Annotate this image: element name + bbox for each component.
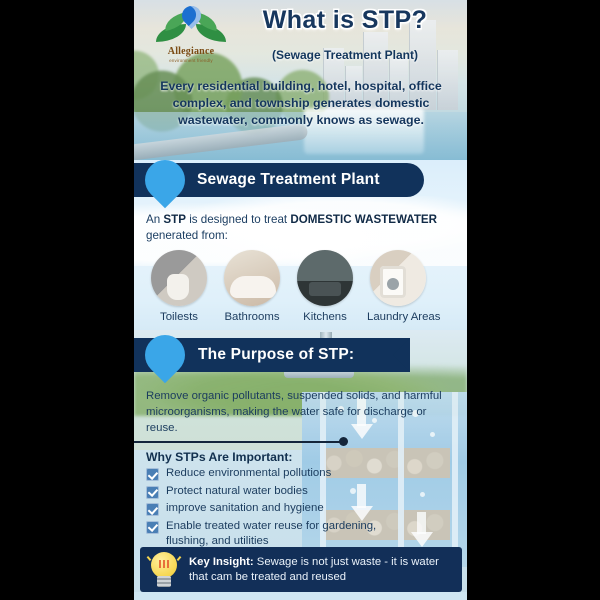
infographic-poster: Allegiance environment friendly What is …: [134, 0, 467, 600]
purpose-description: Remove organic pollutants, suspended sol…: [146, 388, 446, 436]
page-subtitle: (Sewage Treatment Plant): [229, 48, 461, 62]
checklist-label: Reduce environmental pollutions: [166, 466, 331, 482]
list-item: Reduce environmental pollutions: [146, 466, 416, 482]
checklist-label: improve sanitation and hygiene: [166, 501, 324, 517]
bulb-filament: [159, 560, 169, 568]
hero-section: Allegiance environment friendly What is …: [134, 0, 467, 160]
logo-name: Allegiance: [154, 47, 228, 57]
list-item: Enable treated water reuse for gardening…: [146, 519, 416, 550]
lead-suffix: generated from:: [146, 229, 228, 242]
toilet-photo: [151, 250, 207, 306]
logo-tagline: environment friendly: [154, 58, 228, 63]
lightbulb-icon: [146, 550, 182, 590]
checklist-label: Protect natural water bodies: [166, 484, 308, 500]
banner-label: Sewage Treatment Plant: [197, 171, 380, 189]
bottom-strip: [134, 592, 467, 600]
banner-label: The Purpose of STP:: [198, 346, 354, 364]
list-item: improve sanitation and hygiene: [146, 501, 416, 517]
checkbox-checked-icon: [146, 468, 159, 481]
source-list: Toilests Bathrooms Kitchens Laundry Area…: [148, 250, 458, 323]
water-drop-leaf-logo: [154, 6, 228, 46]
page-title: What is STP?: [229, 6, 461, 35]
key-insight-label: Key Insight:: [189, 556, 254, 568]
checkbox-checked-icon: [146, 521, 159, 534]
source-item-kitchens: Kitchens: [294, 250, 356, 323]
tank-wall-right: [452, 392, 458, 567]
lead-bold-stp: STP: [163, 213, 186, 226]
washing-machine-photo: [370, 250, 426, 306]
why-important-heading: Why STPs Are Important:: [146, 450, 293, 464]
kitchen-sink-photo: [297, 250, 353, 306]
hero-description: Every residential building, hotel, hospi…: [156, 78, 446, 129]
lead-paragraph: An STP is designed to treat DOMESTIC WAS…: [146, 212, 446, 244]
list-item: Protect natural water bodies: [146, 484, 416, 500]
bathtub-photo: [224, 250, 280, 306]
benefits-checklist: Reduce environmental pollutions Protect …: [146, 466, 416, 552]
flow-arrow-stem-3: [417, 512, 426, 534]
source-item-toilets: Toilests: [148, 250, 210, 323]
lead-middle: is designed to treat: [186, 213, 290, 226]
checklist-label: Enable treated water reuse for gardening…: [166, 519, 416, 550]
checkbox-checked-icon: [146, 503, 159, 516]
lead-prefix: An: [146, 213, 163, 226]
key-insight-banner: Key Insight: Sewage is not just waste - …: [140, 547, 462, 592]
source-label: Bathrooms: [221, 311, 283, 323]
source-item-bathrooms: Bathrooms: [221, 250, 283, 323]
divider-dot: [339, 437, 348, 446]
checkbox-checked-icon: [146, 486, 159, 499]
key-insight-text: Key Insight: Sewage is not just waste - …: [189, 555, 447, 585]
divider-line: [134, 441, 344, 443]
brand-logo: Allegiance environment friendly: [154, 6, 228, 68]
bulb-base: [157, 576, 171, 587]
source-item-laundry: Laundry Areas: [367, 250, 429, 323]
source-label: Kitchens: [294, 311, 356, 323]
lead-bold-domestic: DOMESTIC WASTEWATER: [290, 213, 437, 226]
source-label: Laundry Areas: [367, 311, 429, 323]
source-label: Toilests: [148, 311, 210, 323]
